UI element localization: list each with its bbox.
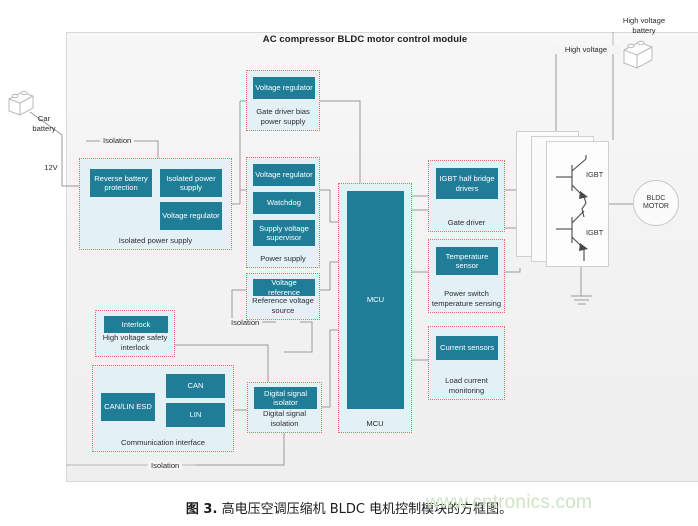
block-voltage-regulator-power-supply[interactable]: Voltage regulator: [253, 164, 315, 186]
isolation-label-bottom: Isolation: [148, 461, 182, 470]
car-battery-icon: [9, 91, 33, 115]
group-reference-voltage-source[interactable]: Voltage reference Reference voltage sour…: [246, 273, 320, 320]
block-voltage-regulator-bias[interactable]: Voltage regulator: [253, 77, 315, 99]
group-power-switch-temperature-sensing[interactable]: Temperature sensor Power switch temperat…: [428, 239, 505, 313]
motor-label-line1: BLDC: [647, 195, 666, 203]
group-gate-driver-bias-power-supply[interactable]: Voltage regulator Gate driver bias power…: [246, 70, 320, 131]
caption-gate-driver: Gate driver: [429, 218, 504, 227]
block-can-lin-esd[interactable]: CAN/LIN ESD: [101, 393, 155, 421]
group-communication-interface[interactable]: CAN/LIN ESD CAN LIN Communication interf…: [92, 365, 234, 452]
car-battery-label-line1: Car: [24, 114, 64, 123]
group-load-current-monitoring[interactable]: Current sensors Load current monitoring: [428, 326, 505, 400]
group-mcu[interactable]: MCU MCU: [338, 183, 412, 433]
group-power-supply[interactable]: Voltage regulator Watchdog Supply voltag…: [246, 157, 320, 268]
isolation-label-top: Isolation: [100, 136, 134, 145]
block-reverse-battery-protection[interactable]: Reverse battery protection: [90, 169, 152, 197]
block-interlock[interactable]: Interlock: [104, 316, 168, 333]
caption-digital-signal-isolation: Digital signal isolation: [248, 409, 321, 428]
caption-communication-interface: Communication interface: [93, 438, 233, 447]
block-can[interactable]: CAN: [166, 374, 225, 398]
figure-caption-number: 图 3.: [186, 502, 218, 517]
igbt-label-top: IGBT: [586, 170, 603, 179]
watermark: www.cntronics.com: [426, 492, 592, 514]
block-current-sensors[interactable]: Current sensors: [436, 336, 498, 360]
block-temperature-sensor[interactable]: Temperature sensor: [436, 247, 498, 275]
figure-caption: 图 3. 高电压空调压缩机 BLDC 电机控制模块的方框图。: [0, 498, 698, 517]
hv-battery-label-line2: battery: [608, 26, 680, 35]
caption-load-current-monitoring: Load current monitoring: [429, 376, 504, 395]
block-voltage-reference[interactable]: Voltage reference: [253, 279, 315, 296]
caption-reference-voltage-source: Reference voltage source: [247, 296, 319, 315]
block-voltage-regulator-isolated[interactable]: Voltage regulator: [160, 202, 222, 230]
module-title: AC compressor BLDC motor control module: [200, 34, 530, 45]
caption-power-supply: Power supply: [247, 254, 319, 263]
block-digital-signal-isolator[interactable]: Digital signal isolator: [254, 387, 317, 409]
caption-high-voltage-safety-interlock: High voltage safety interlock: [96, 333, 174, 352]
block-isolated-power-supply[interactable]: Isolated power supply: [160, 169, 222, 197]
high-voltage-rail-label: High voltage: [551, 45, 621, 54]
motor-label-line2: MOTOR: [643, 203, 669, 211]
igbt-label-bottom: IGBT: [586, 228, 603, 237]
group-gate-driver[interactable]: IGBT half bridge drivers Gate driver: [428, 160, 505, 232]
diagram-stage: AC compressor BLDC motor control module …: [0, 0, 698, 526]
block-supply-voltage-supervisor[interactable]: Supply voltage supervisor: [253, 220, 315, 246]
caption-gate-driver-bias-power-supply: Gate driver bias power supply: [247, 107, 319, 126]
hv-battery-label-line1: High voltage: [608, 16, 680, 25]
block-watchdog[interactable]: Watchdog: [253, 192, 315, 214]
group-isolated-power-supply[interactable]: Reverse battery protection Isolated powe…: [79, 158, 232, 250]
block-lin[interactable]: LIN: [166, 403, 225, 427]
igbt-schematic: [546, 141, 609, 267]
block-mcu[interactable]: MCU: [347, 191, 404, 409]
caption-mcu: MCU: [339, 419, 411, 428]
car-battery-label-line2: battery: [24, 124, 64, 133]
group-digital-signal-isolation[interactable]: Digital signal isolator Digital signal i…: [247, 382, 322, 433]
block-igbt-half-bridge-drivers[interactable]: IGBT half bridge drivers: [436, 168, 498, 199]
caption-isolated-power-supply: Isolated power supply: [80, 236, 231, 245]
voltage-12v-label: 12V: [36, 163, 66, 172]
caption-power-switch-temperature-sensing: Power switch temperature sensing: [429, 289, 504, 308]
bldc-motor: BLDC MOTOR: [633, 180, 679, 226]
group-high-voltage-safety-interlock[interactable]: Interlock High voltage safety interlock: [95, 310, 175, 357]
